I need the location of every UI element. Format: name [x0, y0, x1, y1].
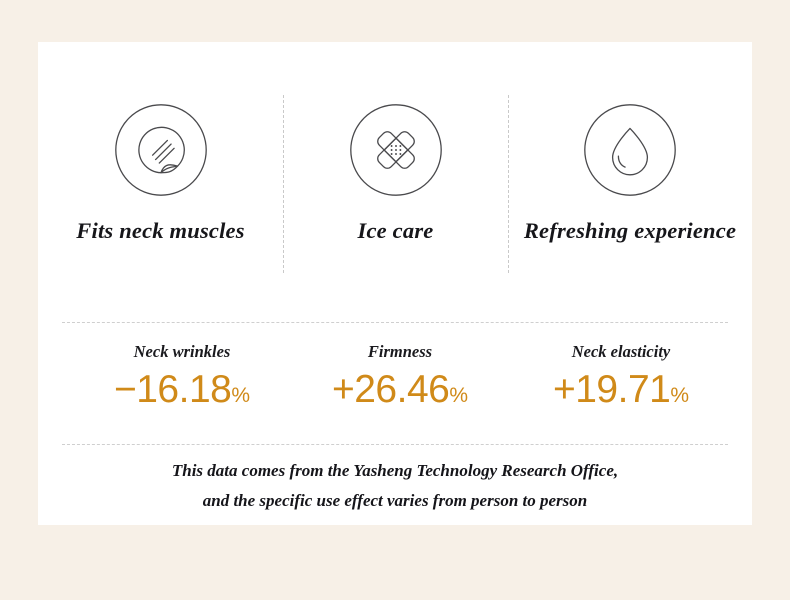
stat-number: +19.71	[553, 368, 670, 411]
disclaimer-line-1: This data comes from the Yasheng Technol…	[38, 456, 752, 486]
stat-value: +26.46%	[332, 370, 468, 409]
stats-divider-bottom	[62, 444, 728, 445]
stat-item-firmness: Firmness +26.46%	[300, 334, 500, 440]
disclaimer: This data comes from the Yasheng Technol…	[38, 456, 752, 516]
disclaimer-line-2: and the specific use effect varies from …	[38, 486, 752, 516]
feature-label: Fits neck muscles	[76, 218, 244, 244]
stats-row: Neck wrinkles −16.18% Firmness +26.46% N…	[38, 334, 752, 440]
stat-number: +26.46	[332, 368, 449, 411]
stat-value: +19.71%	[553, 370, 689, 409]
crossed-bandage-icon	[349, 103, 443, 197]
feature-item-refreshing-experience: Refreshing experience	[508, 42, 752, 274]
features-row: Fits neck muscles	[38, 42, 752, 274]
feature-label: Ice care	[358, 218, 434, 244]
stat-number: −16.18	[114, 368, 231, 411]
info-card: Fits neck muscles	[38, 42, 752, 525]
feature-label: Refreshing experience	[524, 218, 736, 244]
stats-divider-top	[62, 322, 728, 323]
stat-unit: %	[449, 384, 468, 407]
stat-unit: %	[231, 384, 250, 407]
feature-item-fits-neck-muscles: Fits neck muscles	[38, 42, 283, 274]
peeling-patch-icon	[114, 103, 208, 197]
stat-label: Neck wrinkles	[134, 342, 231, 362]
feature-item-ice-care: Ice care	[283, 42, 508, 274]
water-droplet-icon	[583, 103, 677, 197]
stat-label: Firmness	[368, 342, 432, 362]
stat-value: −16.18%	[114, 370, 250, 409]
stat-label: Neck elasticity	[572, 342, 671, 362]
stat-unit: %	[670, 384, 689, 407]
stat-item-neck-wrinkles: Neck wrinkles −16.18%	[68, 334, 296, 440]
stat-item-neck-elasticity: Neck elasticity +19.71%	[508, 334, 734, 440]
